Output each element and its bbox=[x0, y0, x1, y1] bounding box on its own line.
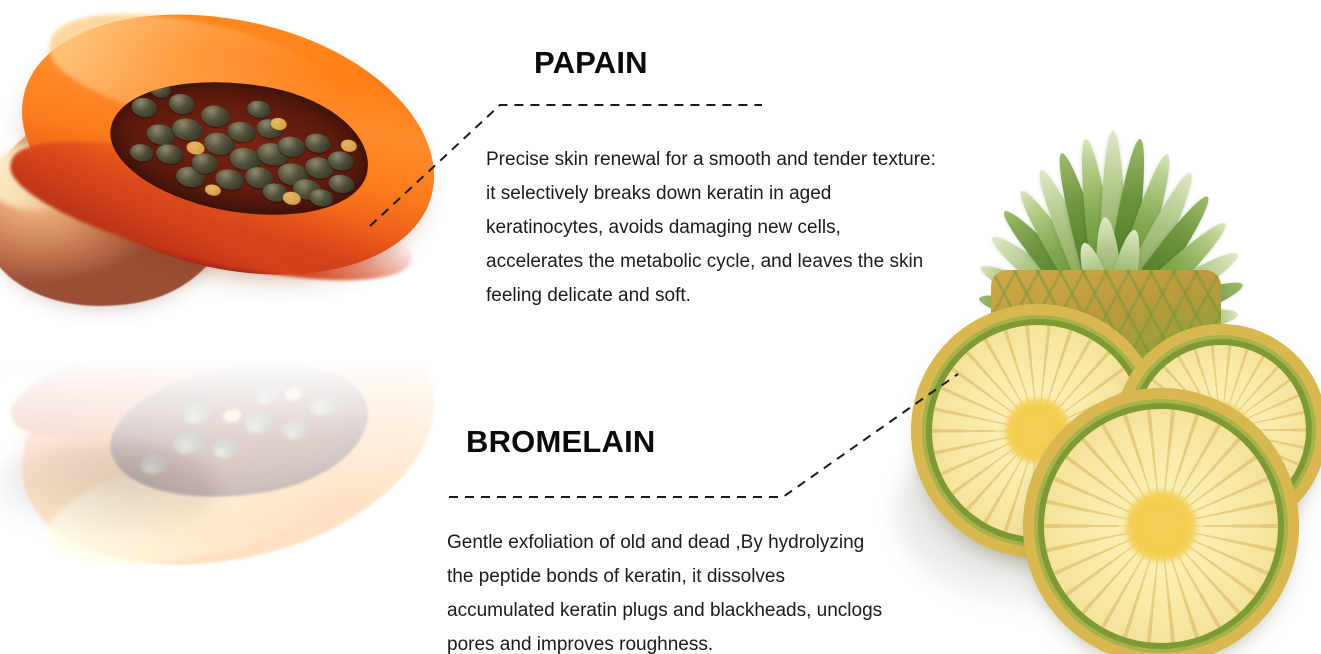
pineapple-image bbox=[905, 8, 1321, 654]
papain-heading: PAPAIN bbox=[534, 45, 648, 81]
papain-body-text: Precise skin renewal for a smooth and te… bbox=[486, 143, 1006, 313]
papaya-image bbox=[0, 14, 452, 344]
infographic-canvas: PAPAIN Precise skin renewal for a smooth… bbox=[0, 0, 1321, 654]
pineapple-slice-front bbox=[1023, 388, 1299, 654]
bromelain-heading: BROMELAIN bbox=[466, 424, 656, 460]
bromelain-body-text: Gentle exfoliation of old and dead ,By h… bbox=[447, 526, 967, 654]
papaya-drop-shadow bbox=[0, 440, 220, 536]
